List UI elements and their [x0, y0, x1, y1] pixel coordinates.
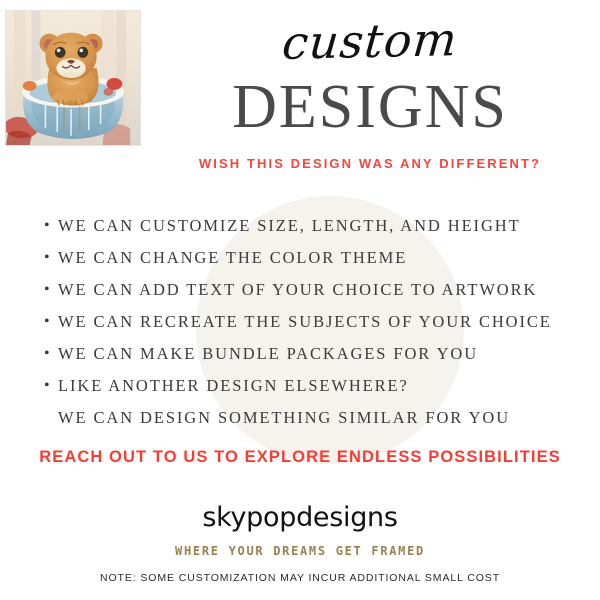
brand-name[interactable]: skypopdesigns — [0, 503, 600, 533]
bullet-icon: • — [44, 312, 58, 331]
list-item: • WE CAN MAKE BUNDLE PACKAGES FOR YOU — [44, 344, 589, 363]
page-title: DESIGNS — [140, 74, 600, 140]
bullet-icon: • — [44, 248, 58, 267]
list-item: • WE CAN ADD TEXT OF YOUR CHOICE TO ARTW… — [44, 280, 589, 299]
list-item: • WE CAN RECREATE THE SUBJECTS OF YOUR C… — [44, 312, 589, 331]
list-item-label: WE CAN DESIGN SOMETHING SIMILAR FOR YOU — [58, 408, 589, 427]
list-item-label: WE CAN RECREATE THE SUBJECTS OF YOUR CHO… — [58, 312, 589, 331]
bullet-icon: • — [44, 344, 58, 363]
list-item-label: WE CAN CUSTOMIZE SIZE, LENGTH, AND HEIGH… — [58, 216, 589, 235]
list-item-label: LIKE ANOTHER DESIGN ELSEWHERE? — [58, 376, 589, 395]
list-item-label: WE CAN MAKE BUNDLE PACKAGES FOR YOU — [58, 344, 589, 363]
lion-cub-bathtub-illustration — [6, 11, 140, 145]
list-item: • WE CAN CUSTOMIZE SIZE, LENGTH, AND HEI… — [44, 216, 589, 235]
customization-feature-list: • WE CAN CUSTOMIZE SIZE, LENGTH, AND HEI… — [44, 216, 589, 440]
tagline-question: WISH THIS DESIGN WAS ANY DIFFERENT? — [140, 156, 600, 171]
bullet-icon: • — [44, 280, 58, 299]
list-item: • WE CAN CHANGE THE COLOR THEME — [44, 248, 589, 267]
product-artwork-thumbnail[interactable] — [5, 10, 141, 146]
custom-designs-poster: custom DESIGNS WISH THIS DESIGN WAS ANY … — [0, 0, 600, 600]
bullet-icon: • — [44, 216, 58, 235]
list-item-label: WE CAN CHANGE THE COLOR THEME — [58, 248, 589, 267]
call-to-action-text: REACH OUT TO US TO EXPLORE ENDLESS POSSI… — [0, 448, 600, 467]
footer-note: NOTE: SOME CUSTOMIZATION MAY INCUR ADDIT… — [0, 571, 600, 585]
brand-tagline: WHERE YOUR DREAMS GET FRAMED — [0, 543, 600, 559]
list-item: • LIKE ANOTHER DESIGN ELSEWHERE? — [44, 376, 589, 395]
bullet-icon: • — [44, 376, 58, 395]
list-item-continuation: • WE CAN DESIGN SOMETHING SIMILAR FOR YO… — [44, 408, 589, 427]
script-title-custom: custom — [137, 9, 600, 73]
poster-header: custom DESIGNS WISH THIS DESIGN WAS ANY … — [140, 14, 600, 171]
list-item-label: WE CAN ADD TEXT OF YOUR CHOICE TO ARTWOR… — [58, 280, 589, 299]
poster-footer: skypopdesigns WHERE YOUR DREAMS GET FRAM… — [0, 503, 600, 585]
